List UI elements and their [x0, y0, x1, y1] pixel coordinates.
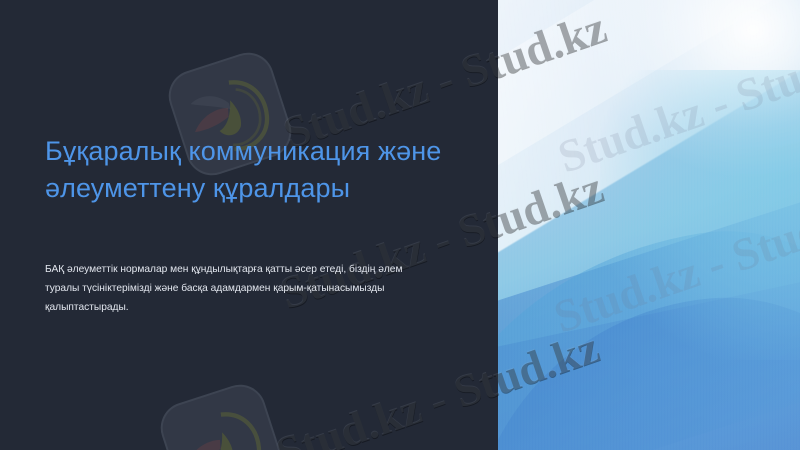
background-texture-streaks	[498, 0, 800, 450]
hummingbird-icon	[154, 378, 290, 450]
slide-body-text: БАҚ әлеуметтік нормалар мен құндылықтарғ…	[45, 260, 433, 317]
stud-kz-logo-watermark-bottom	[154, 378, 290, 450]
decorative-background-image	[498, 0, 800, 450]
slide-title: Бұқаралық коммуникация және әлеуметтену …	[45, 133, 465, 207]
presentation-slide: Stud.kz - Stud.kz Stud.kz - Stud.kz Stud…	[0, 0, 800, 450]
